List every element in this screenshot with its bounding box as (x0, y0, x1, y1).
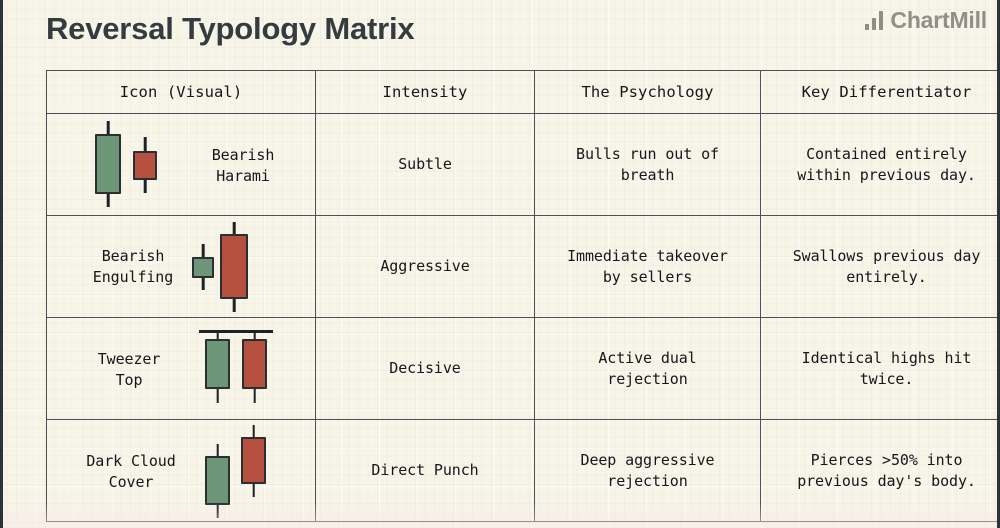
pattern-name-label: Tweezer Top (57, 349, 201, 390)
intensity-cell: Decisive (316, 318, 535, 420)
psychology-cell: Bulls run out of breath (535, 114, 761, 216)
intensity-cell: Direct Punch (316, 420, 535, 522)
reversal-typology-table: Icon (Visual) Intensity The Psychology K… (46, 70, 1000, 522)
key-differentiator-cell: Pierces >50% into previous day's body. (761, 420, 1000, 522)
page-title: Reversal Typology Matrix (46, 11, 414, 47)
table-header-row: Icon (Visual) Intensity The Psychology K… (47, 71, 1000, 114)
table-row: Dark Cloud Cover Direct Punch Deep aggre… (47, 420, 1000, 522)
intensity-cell: Aggressive (316, 216, 535, 318)
chartmill-logo: ChartMill (865, 7, 987, 34)
pattern-name-label: Dark Cloud Cover (51, 451, 211, 492)
candlestick-diagram-bearish-harami: Bearish Harami (53, 115, 309, 214)
bar-chart-icon (865, 11, 884, 30)
candle-bullish-small (192, 244, 214, 290)
candle-bullish (205, 444, 230, 518)
psychology-cell: Immediate takeover by sellers (535, 216, 761, 318)
candle-bullish (205, 330, 230, 403)
table-row: Bearish Engulfing Aggressive Immediate t… (47, 216, 1000, 318)
brand-name: ChartMill (890, 7, 987, 34)
key-differentiator-cell: Swallows previous day entirely. (761, 216, 1000, 318)
candle-bullish-large (95, 121, 121, 207)
poster-canvas: Reversal Typology Matrix ChartMill Icon … (0, 0, 1000, 528)
intensity-cell: Subtle (316, 114, 535, 216)
candlestick-diagram-bearish-engulfing: Bearish Engulfing (53, 217, 309, 316)
column-header-icon: Icon (Visual) (47, 71, 316, 114)
pattern-icon-cell-dark-cloud-cover: Dark Cloud Cover (47, 420, 316, 522)
key-differentiator-cell: Identical highs hit twice. (761, 318, 1000, 420)
pattern-icon-cell-tweezer-top: Tweezer Top (47, 318, 316, 420)
key-differentiator-cell: Contained entirely within previous day. (761, 114, 1000, 216)
table-row: Bearish Harami Subtle Bulls run out of b… (47, 114, 1000, 216)
candlestick-diagram-dark-cloud-cover: Dark Cloud Cover (53, 421, 309, 520)
candle-bearish-large (220, 222, 248, 312)
candlestick-diagram-tweezer-top: Tweezer Top (53, 319, 309, 418)
column-header-psychology: The Psychology (535, 71, 761, 114)
column-header-key-differentiator: Key Differentiator (761, 71, 1000, 114)
pattern-name-label: Bearish Harami (185, 145, 301, 186)
candle-bearish (242, 330, 267, 403)
psychology-cell: Active dual rejection (535, 318, 761, 420)
column-header-intensity: Intensity (316, 71, 535, 114)
psychology-cell: Deep aggressive rejection (535, 420, 761, 522)
candle-bearish (241, 425, 266, 497)
candle-bearish-small (133, 137, 157, 193)
table-row: Tweezer Top Decisive Active dual reject (47, 318, 1000, 420)
pattern-icon-cell-bearish-harami: Bearish Harami (47, 114, 316, 216)
poster-header: Reversal Typology Matrix ChartMill (3, 0, 1000, 66)
pattern-name-label: Bearish Engulfing (61, 246, 205, 287)
pattern-icon-cell-bearish-engulfing: Bearish Engulfing (47, 216, 316, 318)
